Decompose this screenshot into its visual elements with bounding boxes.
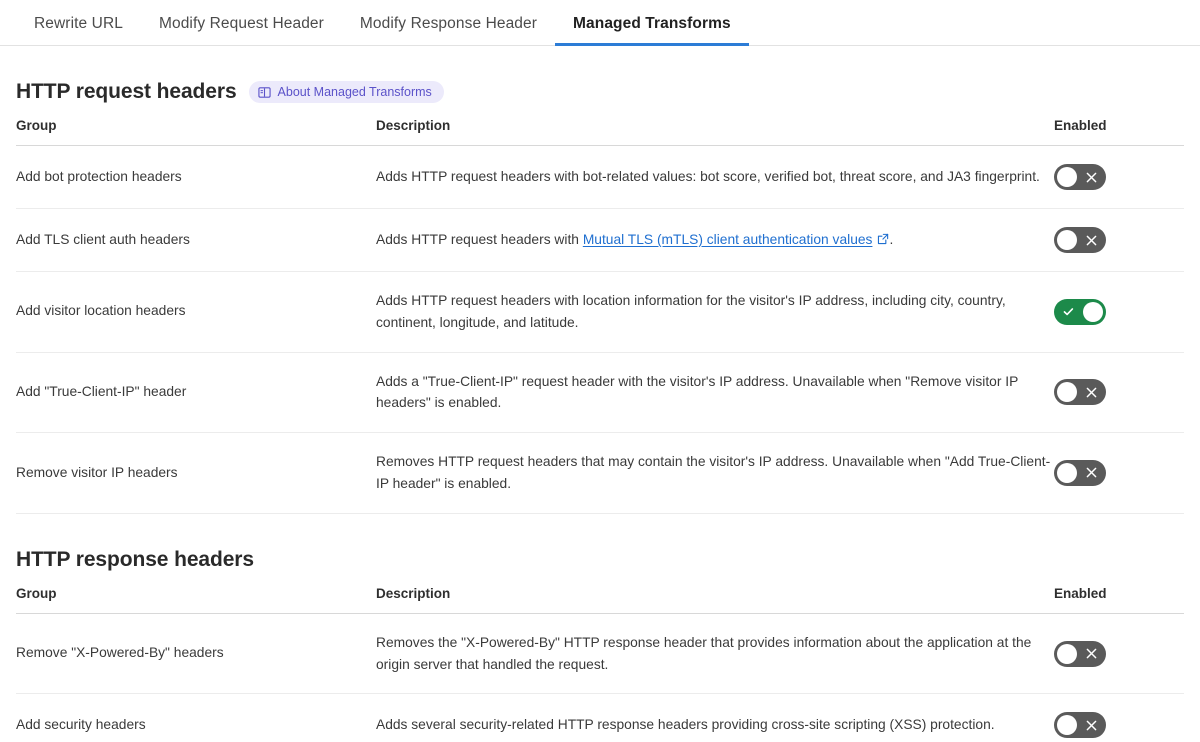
table-row: Remove visitor IP headers Removes HTTP r… — [16, 433, 1184, 514]
row-group-label: Add visitor location headers — [16, 272, 376, 353]
page-title-request: HTTP request headers — [16, 80, 237, 104]
http-request-headers-section: HTTP request headers About Managed Trans… — [0, 46, 1200, 514]
tab-managed-transforms[interactable]: Managed Transforms — [555, 16, 749, 46]
row-description: Adds several security-related HTTP respo… — [376, 694, 1054, 742]
tab-bar: Rewrite URL Modify Request Header Modify… — [0, 0, 1200, 46]
response-section-header: HTTP response headers — [16, 514, 1184, 586]
column-header-enabled: Enabled — [1054, 586, 1184, 614]
toggle-remove-x-powered-by-headers[interactable] — [1054, 641, 1106, 667]
row-description: Adds HTTP request headers with Mutual TL… — [376, 209, 1054, 272]
toggle-add-bot-protection-headers[interactable] — [1054, 164, 1106, 190]
row-group-label: Remove "X-Powered-By" headers — [16, 613, 376, 694]
check-icon — [1054, 299, 1083, 325]
row-description: Adds a "True-Client-IP" request header w… — [376, 352, 1054, 433]
mutual-tls-link[interactable]: Mutual TLS (mTLS) client authentication … — [583, 232, 873, 247]
row-enabled-cell — [1054, 433, 1184, 514]
row-group-label: Add bot protection headers — [16, 146, 376, 209]
row-enabled-cell — [1054, 352, 1184, 433]
toggle-knob — [1057, 715, 1077, 735]
row-group-label: Add TLS client auth headers — [16, 209, 376, 272]
row-enabled-cell — [1054, 209, 1184, 272]
toggle-add-tls-client-auth-headers[interactable] — [1054, 227, 1106, 253]
tab-modify-response-header[interactable]: Modify Response Header — [342, 16, 555, 46]
toggle-add-security-headers[interactable] — [1054, 712, 1106, 738]
book-icon — [258, 86, 271, 99]
toggle-knob — [1057, 463, 1077, 483]
column-header-group: Group — [16, 586, 376, 614]
close-icon — [1077, 712, 1106, 738]
row-description: Removes the "X-Powered-By" HTTP response… — [376, 613, 1054, 694]
request-headers-table: Group Description Enabled Add bot protec… — [16, 118, 1184, 514]
table-row: Add security headers Adds several securi… — [16, 694, 1184, 742]
column-header-group: Group — [16, 118, 376, 146]
toggle-knob — [1057, 230, 1077, 250]
toggle-add-true-client-ip-header[interactable] — [1054, 379, 1106, 405]
column-header-description: Description — [376, 586, 1054, 614]
about-badge-label: About Managed Transforms — [278, 85, 432, 99]
request-section-header: HTTP request headers About Managed Trans… — [16, 46, 1184, 118]
table-row: Remove "X-Powered-By" headers Removes th… — [16, 613, 1184, 694]
tab-rewrite-url[interactable]: Rewrite URL — [16, 16, 141, 46]
table-row: Add "True-Client-IP" header Adds a "True… — [16, 352, 1184, 433]
close-icon — [1077, 227, 1106, 253]
row-description: Adds HTTP request headers with bot-relat… — [376, 146, 1054, 209]
row-enabled-cell — [1054, 272, 1184, 353]
row-description: Removes HTTP request headers that may co… — [376, 433, 1054, 514]
toggle-knob — [1057, 167, 1077, 187]
table-header-row: Group Description Enabled — [16, 586, 1184, 614]
close-icon — [1077, 641, 1106, 667]
row-group-label: Add security headers — [16, 694, 376, 742]
table-row: Add bot protection headers Adds HTTP req… — [16, 146, 1184, 209]
table-row: Add TLS client auth headers Adds HTTP re… — [16, 209, 1184, 272]
row-enabled-cell — [1054, 613, 1184, 694]
toggle-knob — [1057, 644, 1077, 664]
about-managed-transforms-badge[interactable]: About Managed Transforms — [249, 81, 444, 103]
desc-text-after: . — [889, 232, 893, 247]
table-row: Add visitor location headers Adds HTTP r… — [16, 272, 1184, 353]
close-icon — [1077, 460, 1106, 486]
external-link-icon[interactable] — [877, 230, 889, 252]
toggle-knob — [1057, 382, 1077, 402]
row-group-label: Add "True-Client-IP" header — [16, 352, 376, 433]
page-title-response: HTTP response headers — [16, 548, 254, 572]
response-headers-table: Group Description Enabled Remove "X-Powe… — [16, 586, 1184, 742]
table-header-row: Group Description Enabled — [16, 118, 1184, 146]
column-header-enabled: Enabled — [1054, 118, 1184, 146]
row-enabled-cell — [1054, 146, 1184, 209]
column-header-description: Description — [376, 118, 1054, 146]
close-icon — [1077, 164, 1106, 190]
tab-modify-request-header[interactable]: Modify Request Header — [141, 16, 342, 46]
toggle-remove-visitor-ip-headers[interactable] — [1054, 460, 1106, 486]
desc-text-before: Adds HTTP request headers with — [376, 232, 583, 247]
toggle-knob — [1083, 302, 1103, 322]
http-response-headers-section: HTTP response headers Group Description … — [0, 514, 1200, 742]
close-icon — [1077, 379, 1106, 405]
toggle-add-visitor-location-headers[interactable] — [1054, 299, 1106, 325]
row-description: Adds HTTP request headers with location … — [376, 272, 1054, 353]
row-enabled-cell — [1054, 694, 1184, 742]
row-group-label: Remove visitor IP headers — [16, 433, 376, 514]
